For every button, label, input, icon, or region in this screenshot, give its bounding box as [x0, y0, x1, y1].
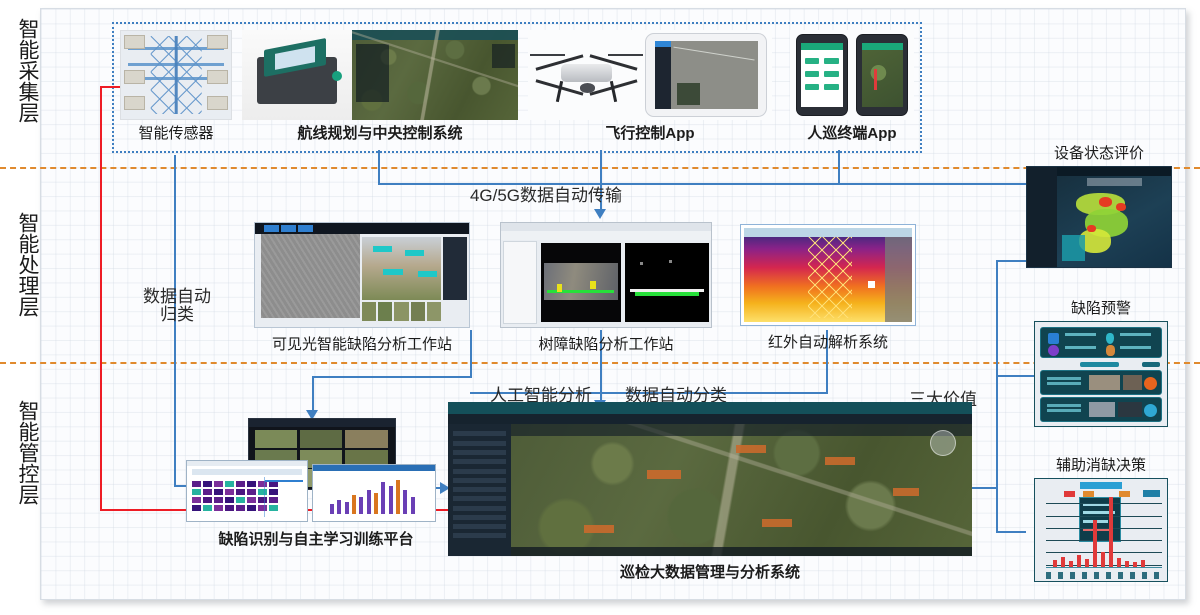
patrol-app-caption: 人巡终端App [790, 122, 914, 143]
node-bigdata-platform[interactable]: 巡检大数据管理与分析系统 [448, 402, 972, 582]
node-route-planning[interactable]: 航线规划与中央控制系统 [242, 30, 518, 143]
smart-sensor-caption: 智能传感器 [120, 122, 232, 143]
bigdata-caption: 巡检大数据管理与分析系统 [448, 561, 972, 582]
transmission-drop-patrol [838, 150, 840, 185]
repair-decision-thumbnail [1034, 478, 1168, 582]
repair-decision-caption: 辅助消缺决策 [1034, 454, 1168, 475]
node-patrol-app[interactable]: 人巡终端App [790, 30, 914, 143]
transmission-drop-route [378, 150, 380, 185]
node-smart-sensor[interactable]: 智能传感器 [120, 30, 232, 143]
node-tree-barrier-station[interactable]: 树障缺陷分析工作站 [500, 222, 712, 354]
layer-label-control: 智能管控层 [2, 400, 38, 505]
feedback-line-left [100, 86, 102, 511]
training-platform-thumbnail [186, 418, 446, 526]
defect-warning-thumbnail [1034, 321, 1168, 427]
patrol-app-thumbnail [790, 30, 914, 120]
auto-classify-label-2: 归类 [122, 305, 232, 325]
node-equipment-status[interactable]: 设备状态评价 [1026, 140, 1172, 268]
output-spine-v [996, 260, 998, 376]
node-defect-training-platform[interactable]: 缺陷识别与自主学习训练平台 [186, 418, 446, 549]
visible-to-control-h [312, 376, 472, 378]
output-to-equipment [996, 260, 1026, 262]
route-planning-thumbnail [242, 30, 518, 120]
visible-light-caption: 可见光智能缺陷分析工作站 [254, 333, 470, 354]
tree-barrier-thumbnail [500, 222, 712, 328]
bigdata-out-h1 [972, 487, 996, 489]
infrared-caption: 红外自动解析系统 [740, 331, 916, 352]
node-infrared-system[interactable]: 红外自动解析系统 [740, 224, 916, 352]
visible-light-thumbnail [254, 222, 470, 328]
flight-app-caption: 飞行控制App [528, 122, 772, 143]
transmission-bus-line [378, 183, 1102, 185]
transmission-arrow-down [594, 209, 606, 219]
route-planning-caption: 航线规划与中央控制系统 [242, 122, 518, 143]
flight-app-thumbnail [528, 30, 772, 120]
defect-warning-caption: 缺陷预警 [1034, 297, 1168, 318]
training-platform-caption: 缺陷识别与自主学习训练平台 [186, 528, 446, 549]
output-spine-down [996, 487, 998, 531]
visible-to-control-v [470, 330, 472, 376]
layer-label-processing: 智能处理层 [2, 212, 38, 317]
transmission-label: 4G/5G数据自动传输 [446, 186, 646, 206]
auto-classify-label-1: 数据自动 [122, 287, 232, 307]
output-to-repair [996, 531, 1026, 533]
equipment-status-caption: 设备状态评价 [1026, 142, 1172, 163]
bigdata-thumbnail [448, 402, 972, 556]
tree-barrier-caption: 树障缺陷分析工作站 [500, 333, 712, 354]
visible-to-control-drop [312, 376, 314, 412]
architecture-diagram: 智能采集层 智能处理层 智能管控层 4G/5G数据自动传输 数据自动 归类 人工… [0, 0, 1200, 615]
node-flight-app[interactable]: 飞行控制App [528, 30, 772, 143]
smart-sensor-thumbnail [120, 30, 232, 120]
infrared-thumbnail [740, 224, 916, 326]
equipment-status-thumbnail [1026, 166, 1172, 268]
layer-label-collection: 智能采集层 [2, 18, 38, 123]
transmission-drop-flight [600, 150, 602, 185]
node-visible-light-station[interactable]: 可见光智能缺陷分析工作站 [254, 222, 470, 354]
node-repair-decision[interactable]: 辅助消缺决策 [1034, 452, 1168, 582]
node-defect-warning[interactable]: 缺陷预警 [1034, 295, 1168, 427]
